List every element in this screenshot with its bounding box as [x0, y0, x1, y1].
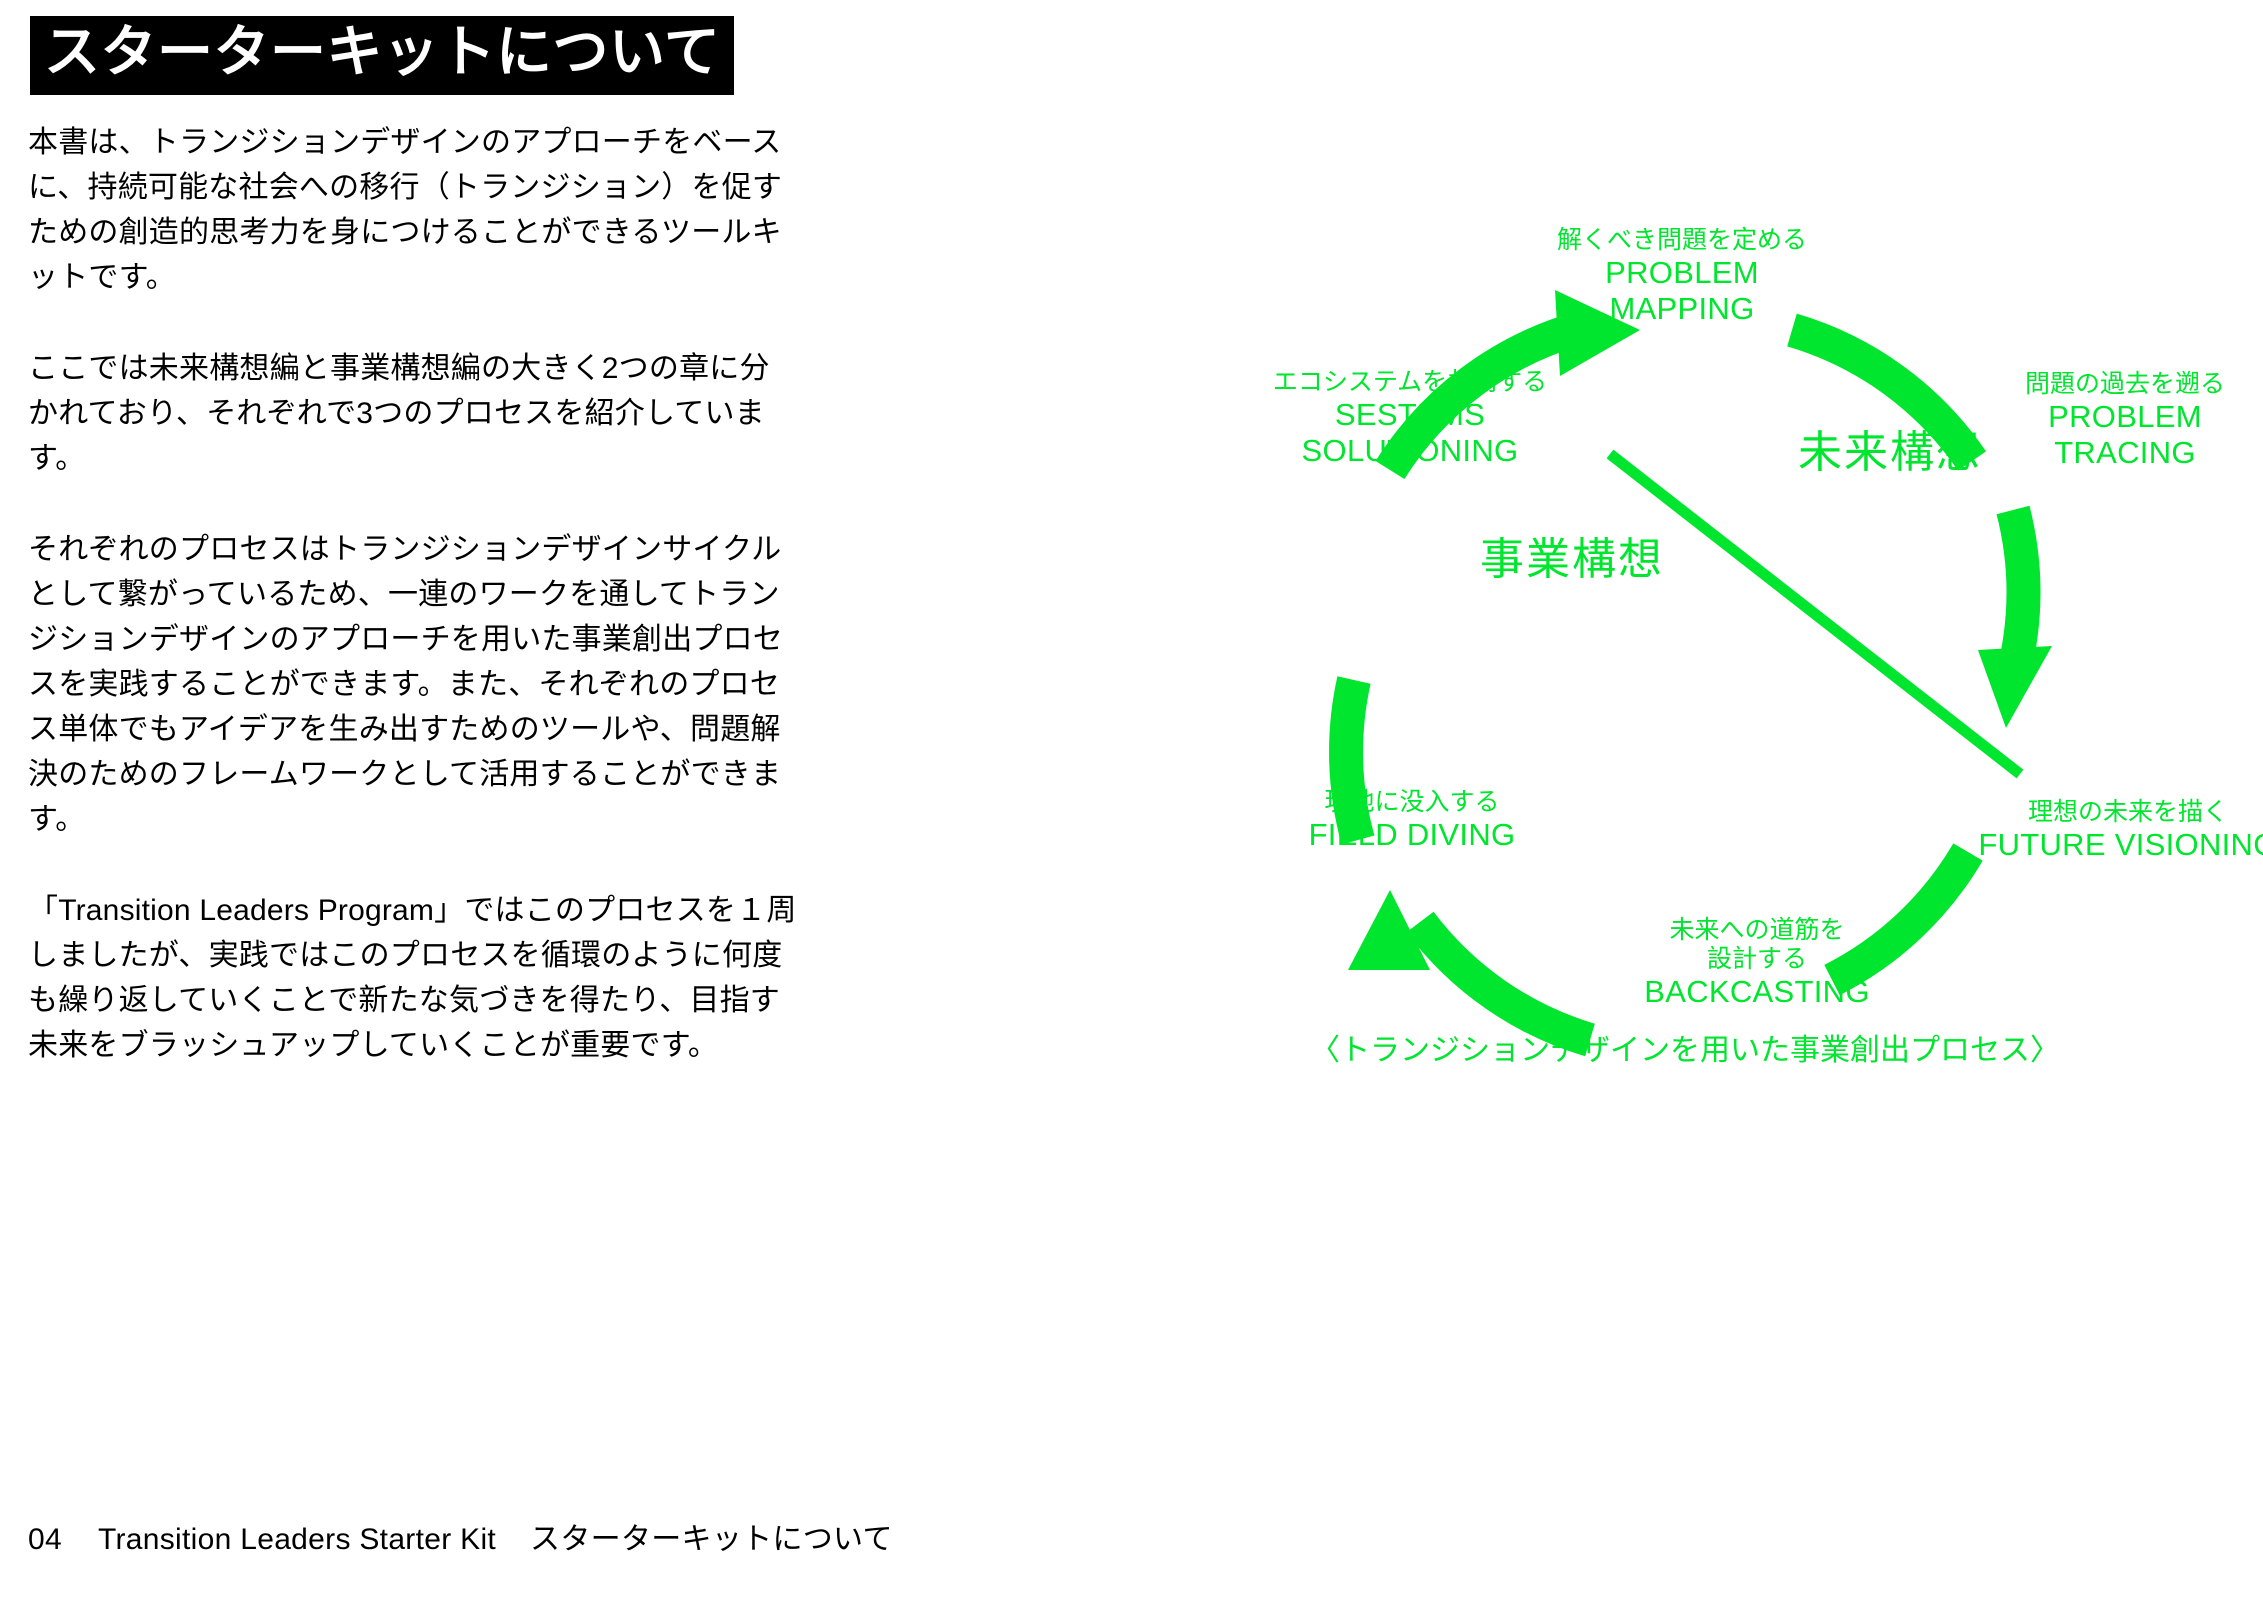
step-en-problem-mapping-line1: PROBLEM [1557, 255, 1807, 291]
step-jp-field-diving: 現地に没入する [1309, 788, 1516, 817]
paragraph-1: 本書は、トランジションデザインのアプローチをベースに、持続可能な社会への移行（ト… [28, 120, 798, 300]
step-label-problem-tracing: 問題の過去を遡る PROBLEM TRACING [2025, 370, 2225, 471]
zone-label-future-visioning: 未来構想 [1798, 416, 1982, 480]
page-title: スターターキットについて [30, 16, 734, 95]
arrow-to-field-diving [1348, 890, 1590, 1040]
step-en-field-diving: FIELD DIVING [1309, 817, 1516, 853]
step-label-problem-mapping: 解くべき問題を定める PROBLEM MAPPING [1557, 226, 1807, 327]
step-jp-backcasting-line2: 設計する [1644, 945, 1870, 974]
step-label-backcasting: 未来への道筋を 設計する BACKCASTING [1644, 916, 1870, 1010]
step-en-backcasting: BACKCASTING [1644, 974, 1870, 1010]
footer-section: スターターキットについて [530, 1514, 893, 1558]
paragraph-2: ここでは未来構想編と事業構想編の大きく2つの章に分かれており、それぞれで3つのプ… [28, 346, 798, 481]
cycle-arrows-svg [1120, 180, 2250, 1300]
step-en-problem-mapping-line2: MAPPING [1557, 291, 1807, 327]
step-en-systems-solutioning-line2: SOLUTIONING [1273, 433, 1547, 469]
step-en-problem-tracing-line1: PROBLEM [2025, 399, 2225, 435]
step-label-future-visioning: 理想の未来を描く FUTURE VISIONING [1978, 798, 2263, 863]
paragraph-3: それぞれのプロセスはトランジションデザインサイクルとして繋がっているため、一連の… [28, 527, 798, 842]
step-jp-systems-solutioning: エコシステムを共創する [1273, 368, 1547, 397]
step-en-systems-solutioning-line1: SESTEMS [1273, 397, 1547, 433]
transition-design-cycle-diagram: 解くべき問題を定める PROBLEM MAPPING 問題の過去を遡る PROB… [1120, 180, 2250, 1300]
step-label-field-diving: 現地に没入する FIELD DIVING [1309, 788, 1516, 853]
step-jp-problem-tracing: 問題の過去を遡る [2025, 370, 2225, 399]
step-jp-backcasting-line1: 未来への道筋を [1644, 916, 1870, 945]
footer-page-number: 04 [28, 1523, 62, 1557]
zone-divider-line [1610, 454, 2020, 774]
step-en-problem-tracing-line2: TRACING [2025, 435, 2225, 471]
paragraph-4: 「Transition Leaders Program」ではこのプロセスを１周し… [28, 888, 798, 1068]
diagram-caption: 〈トランジションデザインを用いた事業創出プロセス〉 [1310, 1025, 2060, 1069]
step-en-future-visioning: FUTURE VISIONING [1978, 827, 2263, 863]
body-text-column: 本書は、トランジションデザインのアプローチをベースに、持続可能な社会への移行（ト… [28, 120, 798, 1068]
step-jp-problem-mapping: 解くべき問題を定める [1557, 226, 1807, 255]
footer-kit-name: Transition Leaders Starter Kit [98, 1523, 496, 1557]
arrow-to-future-visioning [1978, 510, 2052, 728]
page-footer: 04 Transition Leaders Starter Kit スターターキ… [28, 1514, 893, 1558]
step-label-systems-solutioning: エコシステムを共創する SESTEMS SOLUTIONING [1273, 368, 1547, 469]
step-jp-future-visioning: 理想の未来を描く [1978, 798, 2263, 827]
zone-label-business-visioning: 事業構想 [1480, 523, 1664, 587]
